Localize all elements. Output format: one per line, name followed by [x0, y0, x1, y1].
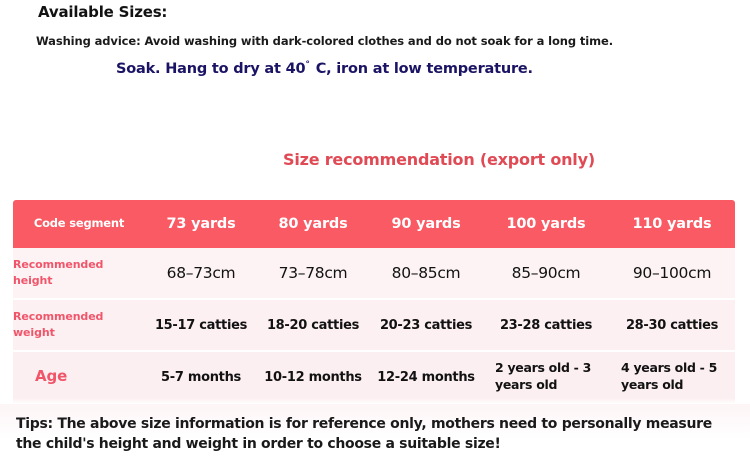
row-label-line1: Age [35, 366, 145, 388]
cell-weight-80: 18-20 catties [257, 299, 369, 351]
row-label-line1: Recommended [13, 309, 145, 325]
table-header-row: Code segment 73 yards 80 yards 90 yards … [13, 200, 735, 248]
cell-weight-73: 15-17 catties [145, 299, 257, 351]
cell-height-100: 85–90cm [483, 248, 609, 299]
column-header-80-yards: 80 yards [257, 200, 369, 248]
table-header: Code segment 73 yards 80 yards 90 yards … [13, 200, 735, 248]
cell-height-110: 90–100cm [609, 248, 735, 299]
cell-age-100: 2 years old - 3 years old [483, 351, 609, 402]
cell-age-80: 10-12 months [257, 351, 369, 402]
row-label-recommended-height: Recommended height [13, 248, 145, 299]
row-label-recommended-weight: Recommended weight [13, 299, 145, 351]
column-header-110-yards: 110 yards [609, 200, 735, 248]
table-row-recommended-weight: Recommended weight 15-17 catties 18-20 c… [13, 299, 735, 351]
cell-age-110: 4 years old - 5 years old [609, 351, 735, 402]
care-info-block: Available Sizes: Washing advice: Avoid w… [0, 0, 750, 140]
cell-height-80: 73–78cm [257, 248, 369, 299]
table-row-age: Age 5-7 months 10-12 months 12-24 months… [13, 351, 735, 402]
row-label-line2: weight [13, 325, 145, 341]
column-header-73-yards: 73 yards [145, 200, 257, 248]
size-recommendation-title: Size recommendation (export only) [283, 150, 595, 169]
degree-symbol: ° [305, 60, 315, 70]
column-header-90-yards: 90 yards [369, 200, 483, 248]
cell-height-90: 80–85cm [369, 248, 483, 299]
column-header-code-segment: Code segment [13, 200, 145, 248]
care-instruction-suffix: C, iron at low temperature. [316, 61, 533, 77]
table-body: Recommended height 68–73cm 73–78cm 80–85… [13, 248, 735, 402]
washing-advice-text: Washing advice: Avoid washing with dark-… [36, 34, 613, 48]
tips-footer: Tips: The above size information is for … [0, 404, 750, 469]
row-label-line2: height [13, 273, 145, 289]
cell-weight-100: 23-28 catties [483, 299, 609, 351]
row-label-line1: Recommended [13, 257, 145, 273]
cell-age-73: 5-7 months [145, 351, 257, 402]
column-header-100-yards: 100 yards [483, 200, 609, 248]
cell-weight-90: 20-23 catties [369, 299, 483, 351]
care-instruction-prefix: Soak. Hang to dry at 40 [116, 61, 305, 77]
available-sizes-heading: Available Sizes: [38, 3, 167, 21]
cell-age-90: 12-24 months [369, 351, 483, 402]
cell-weight-110: 28-30 catties [609, 299, 735, 351]
cell-height-73: 68–73cm [145, 248, 257, 299]
row-label-age: Age [13, 351, 145, 402]
tips-text: Tips: The above size information is for … [16, 414, 731, 455]
table-row-recommended-height: Recommended height 68–73cm 73–78cm 80–85… [13, 248, 735, 299]
size-recommendation-table: Code segment 73 yards 80 yards 90 yards … [13, 200, 735, 402]
care-instruction-text: Soak. Hang to dry at 40°C, iron at low t… [116, 60, 533, 77]
